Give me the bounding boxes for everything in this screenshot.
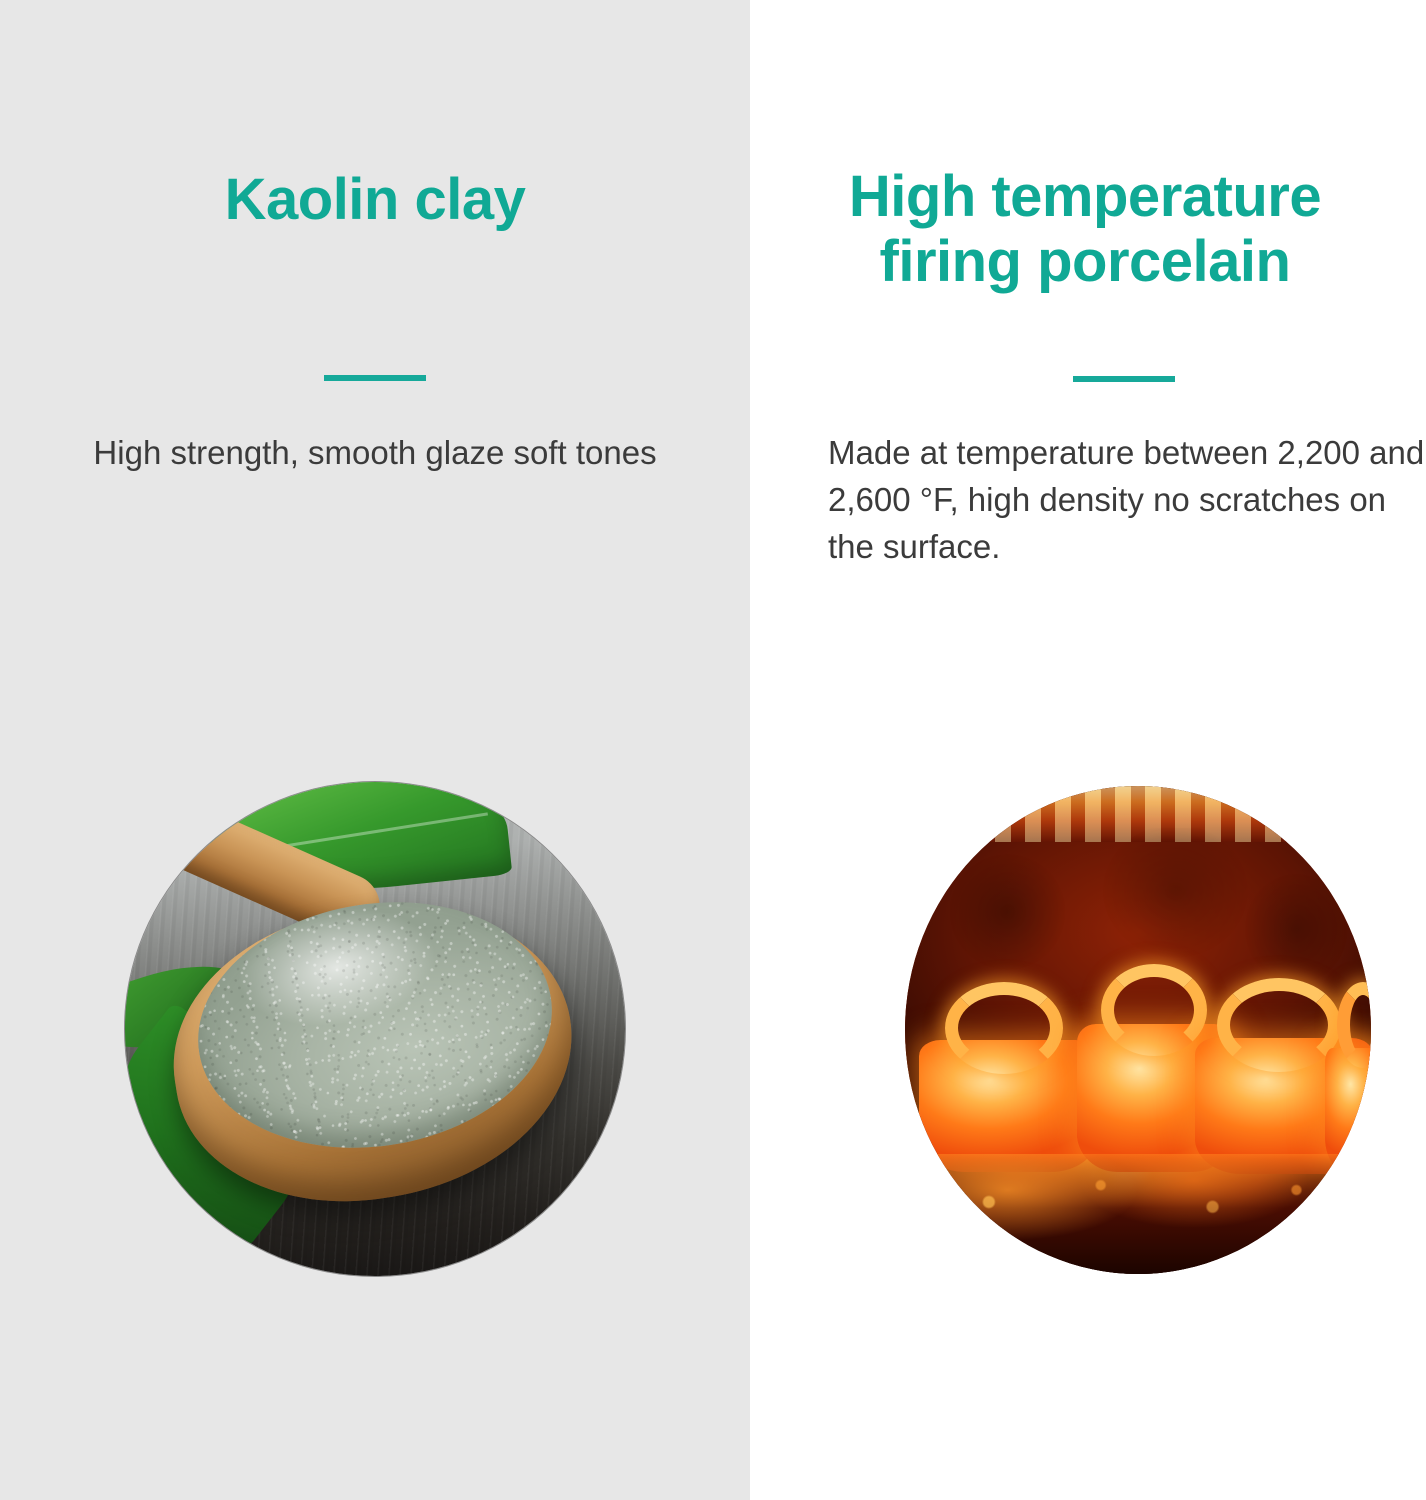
kiln-firing-photo-scene bbox=[905, 786, 1371, 1274]
kaolin-clay-photo-scene bbox=[125, 782, 625, 1276]
glowing-kettle-handle-3 bbox=[1217, 978, 1341, 1072]
high-temperature-title: High temperature firing porcelain bbox=[740, 165, 1426, 295]
kaolin-clay-title-divider bbox=[324, 375, 426, 381]
kaolin-clay-title: Kaolin clay bbox=[0, 168, 750, 233]
feature-infographic: Kaolin clay High strength, smooth glaze … bbox=[0, 0, 1426, 1500]
kiln-firing-photo bbox=[905, 786, 1371, 1274]
feature-column-high-temperature: High temperature firing porcelain Made a… bbox=[750, 0, 1426, 1500]
high-temperature-title-divider bbox=[1073, 376, 1175, 382]
feature-column-kaolin-clay: Kaolin clay High strength, smooth glaze … bbox=[0, 0, 750, 1500]
glowing-kettle-handle-2 bbox=[1101, 964, 1207, 1056]
glowing-kettle-handle-1 bbox=[945, 982, 1063, 1074]
high-temperature-title-line-1: High temperature bbox=[849, 164, 1321, 229]
kiln-ember-bed bbox=[905, 1154, 1371, 1274]
high-temperature-title-line-2: firing porcelain bbox=[880, 229, 1291, 294]
kaolin-clay-description: High strength, smooth glaze soft tones bbox=[40, 430, 710, 477]
high-temperature-description: Made at temperature between 2,200 and 2,… bbox=[828, 430, 1426, 571]
kaolin-clay-photo bbox=[125, 782, 625, 1276]
